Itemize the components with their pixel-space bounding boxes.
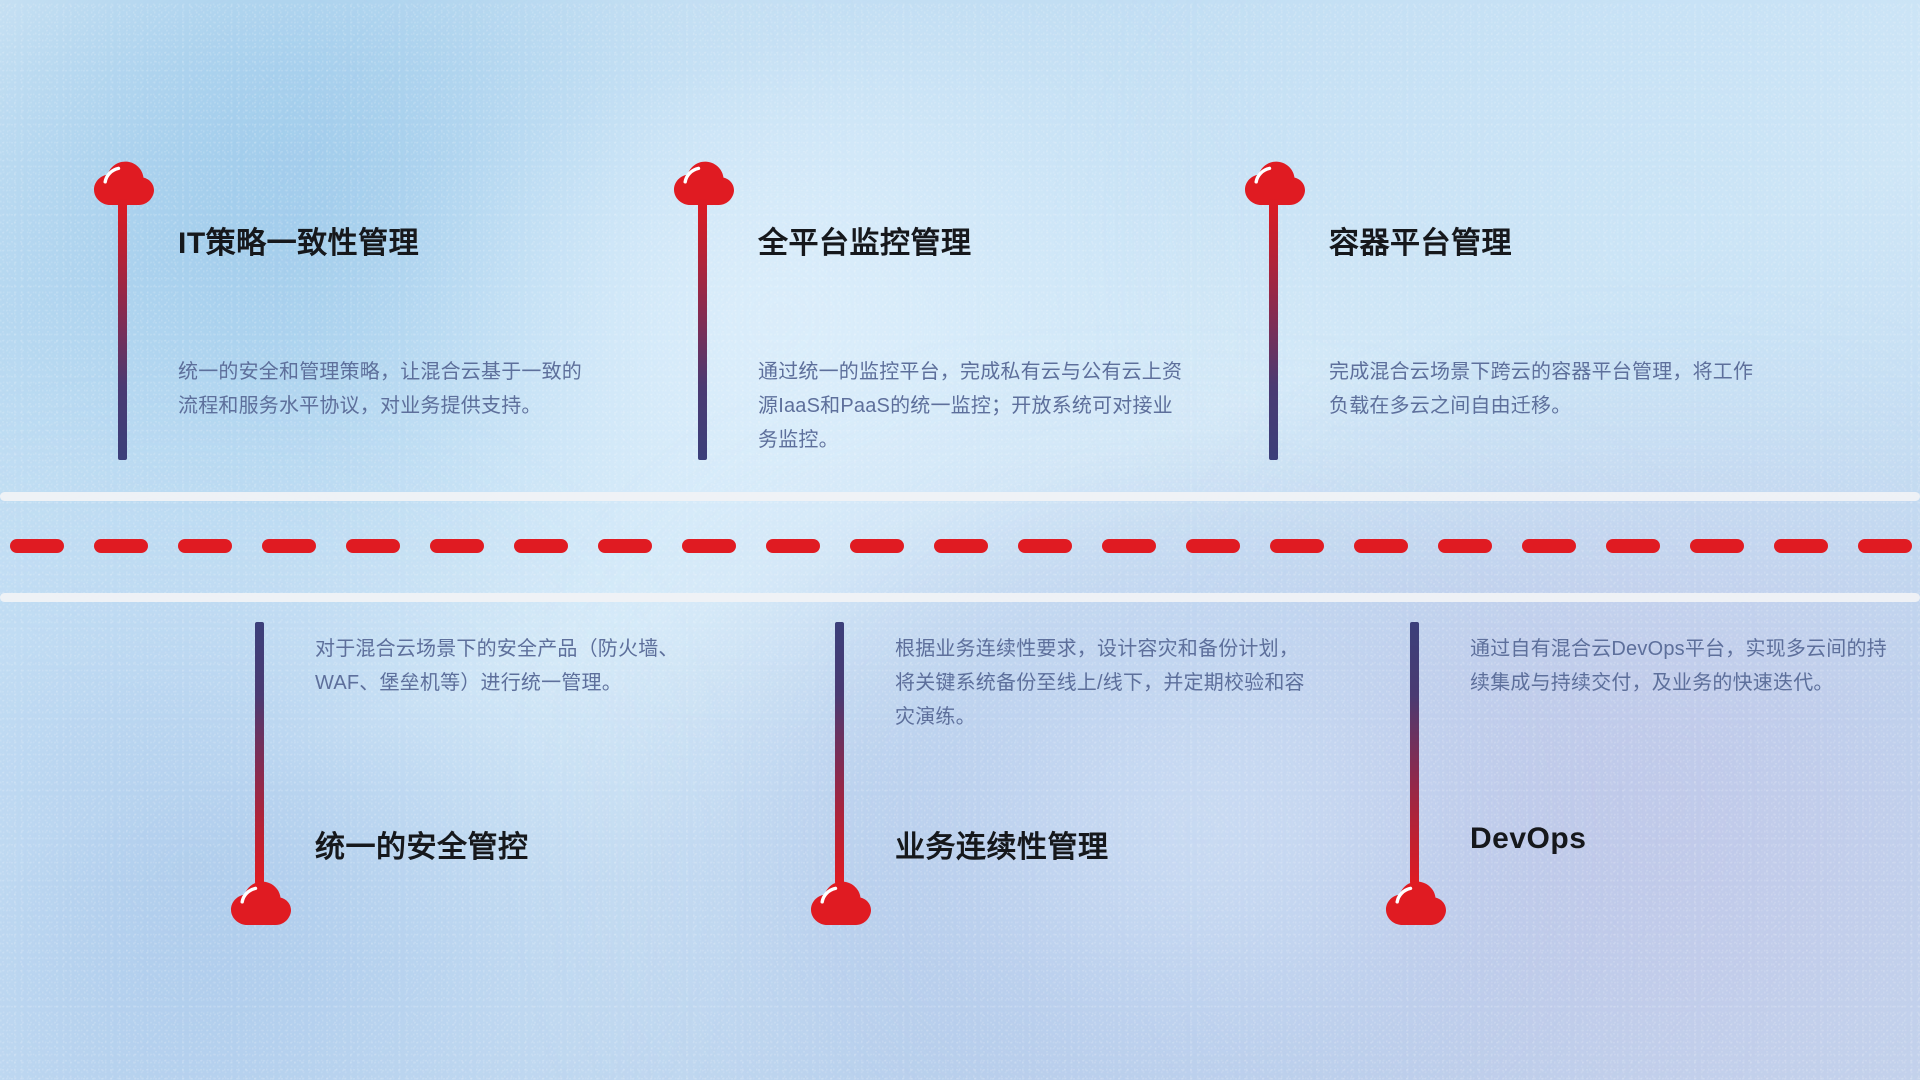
connector-bar: [1410, 622, 1419, 884]
connector-bar: [118, 198, 127, 460]
cloud-icon: [1384, 880, 1446, 926]
divider-dash: [850, 539, 904, 553]
cloud-icon: [229, 880, 291, 926]
divider-dash: [178, 539, 232, 553]
divider-dash: [766, 539, 820, 553]
divider-dashed-line: [0, 539, 1920, 553]
divider-dash: [1270, 539, 1324, 553]
divider-dash: [346, 539, 400, 553]
feature-body: 对于混合云场景下的安全产品（防火墙、WAF、堡垒机等）进行统一管理。: [315, 632, 735, 700]
cloud-icon: [809, 880, 871, 926]
divider-dash: [514, 539, 568, 553]
divider-dash: [1774, 539, 1828, 553]
divider-dash: [682, 539, 736, 553]
feature-heading: IT策略一致性管理: [178, 218, 419, 262]
divider-dash: [1102, 539, 1156, 553]
divider-dash: [934, 539, 988, 553]
divider-dash: [598, 539, 652, 553]
divider-dash: [1354, 539, 1408, 553]
feature-body: 根据业务连续性要求，设计容灾和备份计划，将关键系统备份至线上/线下，并定期校验和…: [895, 632, 1315, 734]
divider-dash: [10, 539, 64, 553]
feature-body: 通过统一的监控平台，完成私有云与公有云上资源IaaS和PaaS的统一监控；开放系…: [758, 355, 1188, 457]
connector-bar: [698, 198, 707, 460]
divider-dash: [1690, 539, 1744, 553]
divider-dash: [1522, 539, 1576, 553]
divider-dash: [1186, 539, 1240, 553]
feature-body: 完成混合云场景下跨云的容器平台管理，将工作负载在多云之间自由迁移。: [1329, 355, 1759, 423]
feature-heading: 全平台监控管理: [758, 218, 972, 262]
feature-body: 通过自有混合云DevOps平台，实现多云间的持续集成与持续交付，及业务的快速迭代…: [1470, 632, 1890, 700]
connector-bar: [835, 622, 844, 884]
infographic-canvas: IT策略一致性管理 统一的安全和管理策略，让混合云基于一致的流程和服务水平协议，…: [0, 0, 1920, 1080]
connector-bar: [255, 622, 264, 884]
divider-dash: [262, 539, 316, 553]
feature-heading: 业务连续性管理: [895, 822, 1109, 866]
feature-heading: DevOps: [1470, 822, 1586, 856]
section-divider: [0, 492, 1920, 602]
connector-bar: [1269, 198, 1278, 460]
divider-rule-bottom: [0, 593, 1920, 602]
divider-dash: [1438, 539, 1492, 553]
divider-dash: [1018, 539, 1072, 553]
divider-dash: [94, 539, 148, 553]
divider-dash: [430, 539, 484, 553]
feature-heading: 统一的安全管控: [315, 822, 529, 866]
feature-heading: 容器平台管理: [1329, 218, 1512, 262]
divider-dash: [1858, 539, 1912, 553]
divider-dash: [1606, 539, 1660, 553]
divider-rule-top: [0, 492, 1920, 501]
feature-body: 统一的安全和管理策略，让混合云基于一致的流程和服务水平协议，对业务提供支持。: [178, 355, 598, 423]
